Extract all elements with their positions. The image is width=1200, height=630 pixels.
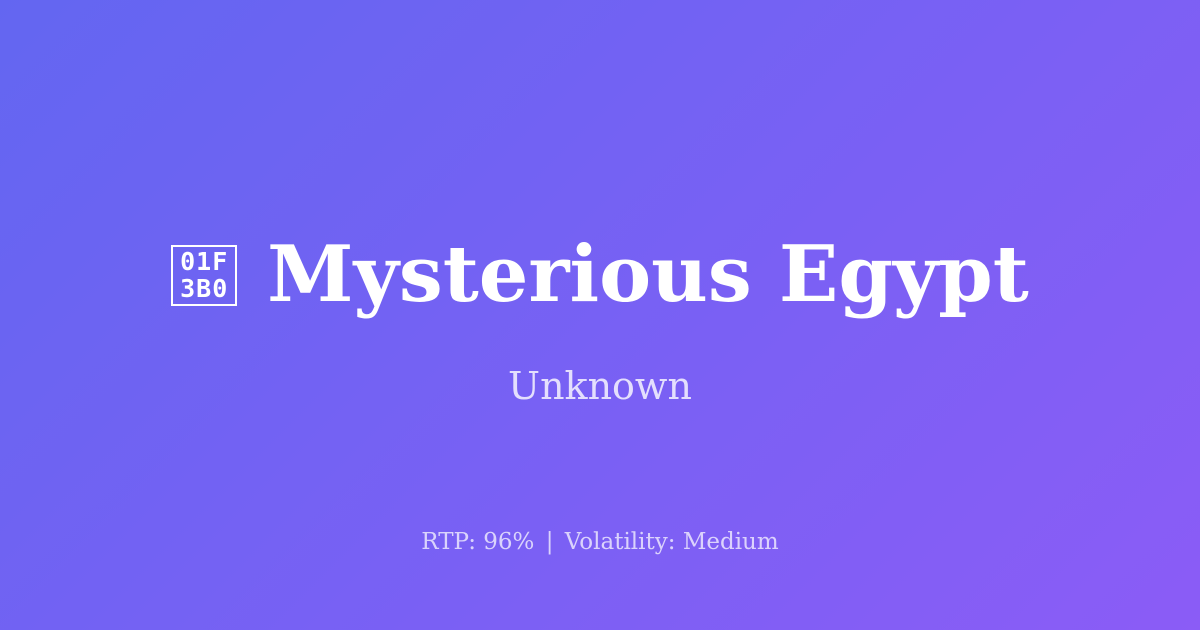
rtp-label: RTP: [421,529,476,555]
tofu-codepoint-line-1: 01F [180,248,228,275]
og-preview-card: 01F 3B0 Mysterious Egypt Unknown RTP: 96… [0,0,1200,630]
rtp-value: 96% [483,529,534,555]
meta-separator: | [542,529,558,555]
game-provider: Unknown [0,363,1200,409]
game-meta: RTP: 96% | Volatility: Medium [0,527,1200,557]
volatility-value: Medium [683,529,779,555]
slot-machine-emoji-icon: 01F 3B0 [171,245,237,306]
game-title: Mysterious Egypt [267,232,1029,318]
title-row: 01F 3B0 Mysterious Egypt [0,232,1200,318]
tofu-codepoint-line-2: 3B0 [180,275,228,302]
volatility-label: Volatility: [565,529,676,555]
